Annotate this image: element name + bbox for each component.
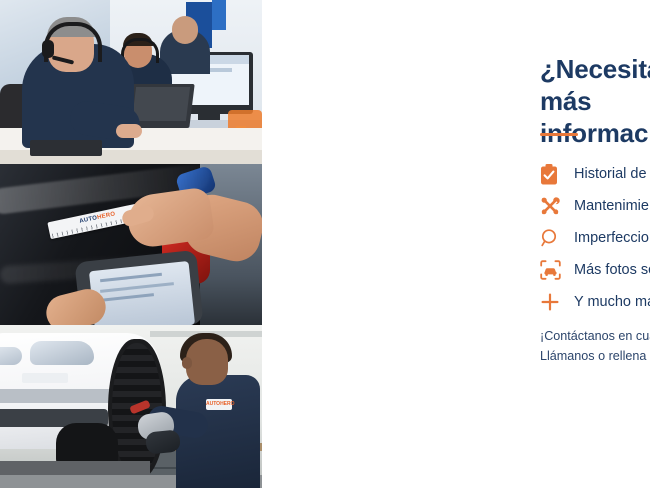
feature-item-fotos: Más fotos sobre el coche [540, 254, 650, 286]
title-line-2: más información? [540, 85, 650, 149]
clipboard-check-icon [540, 164, 574, 185]
feature-label: Y mucho más [574, 294, 650, 310]
contact-line-1: ¡Contáctanos en cualquier momento para m… [540, 326, 650, 346]
mechanic-tire-check-photo: AUTOHERO [0, 325, 262, 488]
title-divider [540, 133, 578, 136]
feature-label: Más fotos sobre el coche [574, 262, 650, 278]
content-panel: ¿Necesitas más información? [262, 0, 650, 488]
feature-list: Historial de mantenimientos M [540, 158, 650, 318]
feature-label: Historial de mantenimientos [574, 166, 650, 182]
feature-item-mantenimiento: Mantenimiento realizado [540, 190, 650, 222]
feature-item-mas: Y mucho más [540, 286, 650, 318]
call-center-agents-photo [0, 0, 262, 164]
magnifier-icon [540, 228, 574, 248]
feature-item-historial: Historial de mantenimientos [540, 158, 650, 190]
info-banner: AUTOHERO AUTOHERO ¿Necesita [0, 0, 650, 488]
contact-line-2: Llámanos o rellena el formulario de cont… [540, 346, 650, 366]
plus-icon [540, 292, 574, 312]
uniform-logo: AUTOHERO [206, 399, 232, 410]
photo-collage: AUTOHERO AUTOHERO [0, 0, 262, 488]
feature-item-imperfecciones: Imperfecciones [540, 222, 650, 254]
title-line-1: ¿Necesitas [540, 53, 650, 85]
car-inspection-ruler-photo: AUTOHERO [0, 164, 262, 325]
contact-copy: ¡Contáctanos en cualquier momento para m… [540, 326, 650, 366]
feature-label: Imperfecciones [574, 230, 650, 246]
feature-label: Mantenimiento realizado [574, 198, 650, 214]
tools-cross-icon [540, 196, 574, 216]
car-scan-icon [540, 260, 574, 280]
